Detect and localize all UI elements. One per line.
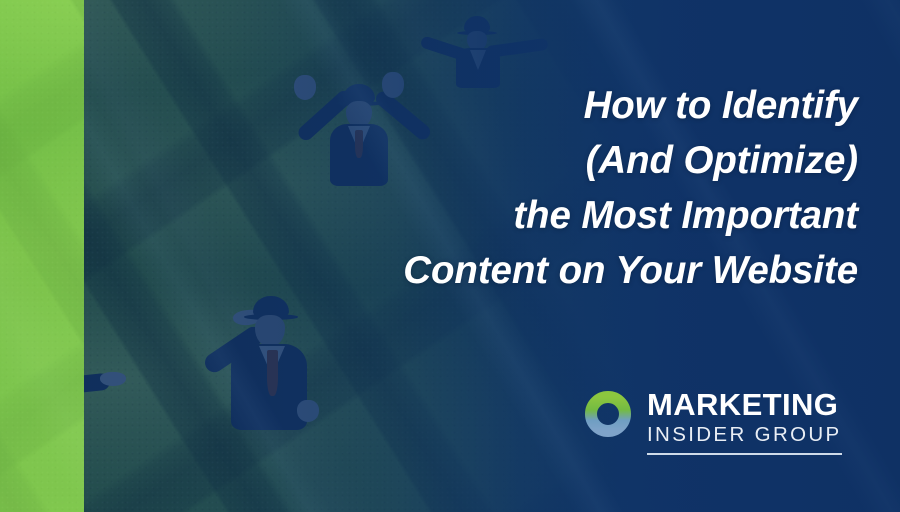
green-accent-bar	[0, 0, 84, 512]
page-title: How to Identify (And Optimize) the Most …	[298, 78, 858, 298]
ring-donut-icon	[585, 391, 631, 437]
logo-secondary-word: INSIDER GROUP	[647, 422, 842, 448]
page-title-line-2: (And Optimize)	[298, 133, 858, 188]
green-screen-overlay	[0, 0, 84, 512]
brand-logo[interactable]: MARKETING INSIDER GROUP	[585, 388, 842, 455]
logo-wordmark: MARKETING INSIDER GROUP	[647, 388, 842, 455]
page-title-line-4: Content on Your Website	[298, 243, 858, 298]
logo-underline-rule	[647, 453, 842, 455]
logo-primary-word: MARKETING	[647, 388, 842, 422]
page-title-line-3: the Most Important	[298, 188, 858, 243]
blog-header-banner: How to Identify (And Optimize) the Most …	[0, 0, 900, 512]
page-title-line-1: How to Identify	[298, 78, 858, 133]
